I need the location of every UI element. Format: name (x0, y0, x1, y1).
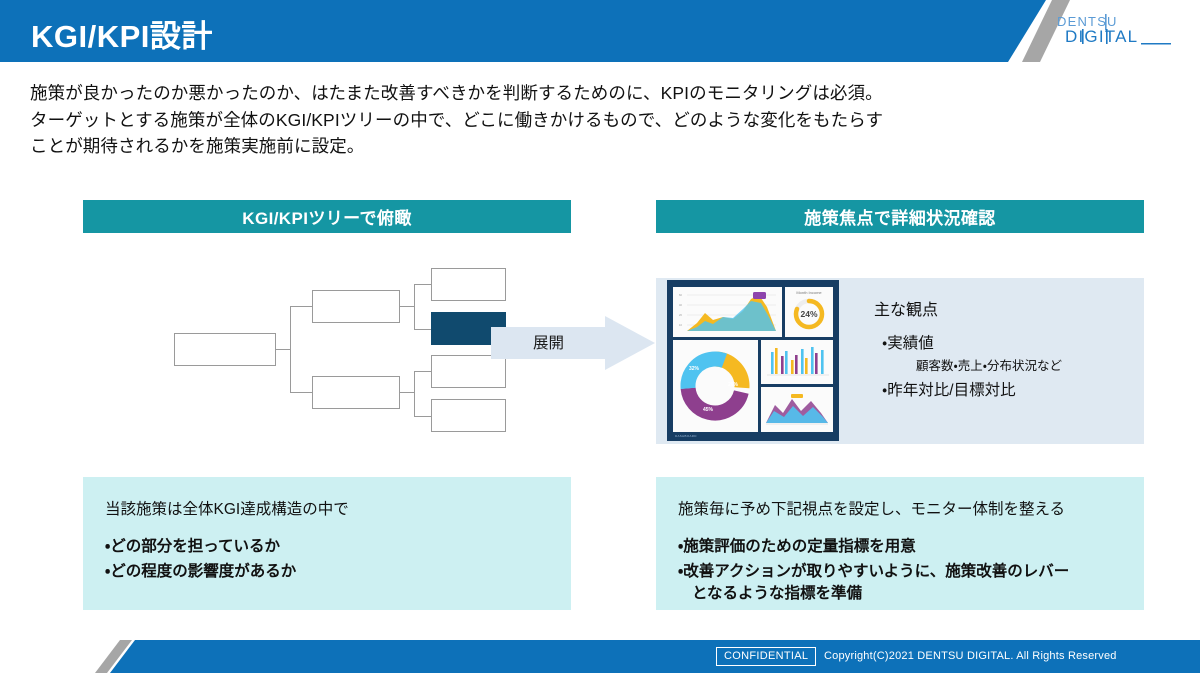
confidential-badge: CONFIDENTIAL (716, 647, 816, 666)
tree-connector (399, 392, 415, 393)
tree-connector (414, 371, 432, 372)
section-header-detail: 施策焦点で詳細状況確認 (656, 200, 1144, 233)
dashboard-grid: 6040 2010 Month Income 24% (673, 287, 833, 433)
bottom-right-list: ・施策評価のための定量指標を用意 ・改善アクションが取りやすいように、施策改善の… (678, 536, 1122, 605)
tree-connector (290, 306, 291, 393)
tree-connector (414, 329, 432, 330)
tree-connector (414, 371, 415, 417)
list-item-main: ・どの程度の影響度があるか (105, 563, 296, 580)
section-header-tree: KGI/KPIツリーで俯瞰 (83, 200, 571, 233)
list-item: ・どの部分を担っているか (105, 536, 549, 558)
arrow-shape-icon (491, 316, 655, 370)
bar-chart-icon (761, 340, 833, 384)
bottom-panel-left: 当該施策は全体KGI達成構造の中で ・どの部分を担っているか ・どの程度の影響度… (83, 477, 571, 610)
tree-connector (414, 284, 432, 285)
list-item-main: ・改善アクションが取りやすいように、施策改善のレバー (678, 563, 1069, 580)
mountain-chart-icon (761, 387, 833, 432)
bottom-left-list: ・どの部分を担っているか ・どの程度の影響度があるか (105, 536, 549, 583)
aspects-bullet-1: ・実績値 (882, 331, 1136, 353)
dashboard-mockup-image: 6040 2010 Month Income 24% (667, 280, 839, 441)
list-item: ・施策評価のための定量指標を用意 (678, 536, 1122, 558)
svg-text:60: 60 (679, 293, 682, 297)
donut-chart-icon (673, 340, 758, 432)
dashboard-brand-label: DASHBOARD (675, 434, 697, 438)
svg-text:40: 40 (679, 303, 682, 307)
bottom-right-lead: 施策毎に予め下記視点を設定し、モニター体制を整える (678, 497, 1122, 519)
tree-connector (414, 284, 415, 330)
tree-connector (275, 349, 291, 350)
dentsu-digital-logo: DENTSU DIGITAL (1043, 11, 1175, 51)
bottom-left-lead: 当該施策は全体KGI達成構造の中で (105, 497, 549, 519)
tree-node-leaf-1[interactable] (431, 268, 506, 301)
tree-connector (399, 306, 415, 307)
dashboard-bar-chart-card (761, 340, 833, 384)
donut-label-2: 26% (728, 382, 738, 388)
tree-node-mid-2[interactable] (312, 376, 400, 409)
tree-connector (290, 392, 313, 393)
tree-connector (290, 306, 313, 307)
copyright-text: Copyright(C)2021 DENTSU DIGITAL. All Rig… (824, 650, 1117, 662)
dashboard-gauge-card: Month Income 24% (785, 287, 833, 337)
svg-text:10: 10 (679, 323, 682, 327)
aspects-list: 主な観点 ・実績値 顧客数・売上・分布状況など ・昨年対比/目標対比 (874, 296, 1136, 400)
page-title: KGI/KPI設計 (31, 11, 213, 56)
expand-arrow: 展開 (491, 316, 655, 370)
list-item: ・改善アクションが取りやすいように、施策改善のレバー となるような指標を準備 (678, 561, 1122, 605)
bottom-panel-right: 施策毎に予め下記視点を設定し、モニター体制を整える ・施策評価のための定量指標を… (656, 477, 1144, 610)
tree-node-mid-1[interactable] (312, 290, 400, 323)
dashboard-area-chart-card: 6040 2010 (673, 287, 782, 337)
gauge-value: 24% (785, 309, 833, 319)
aspects-heading: 主な観点 (874, 296, 1136, 320)
lead-line-2: ターゲットとする施策が全体のKGI/KPIツリーの中で、どこに働きかけるもので、… (30, 107, 1170, 134)
kgi-kpi-tree (160, 265, 505, 465)
list-item: ・どの程度の影響度があるか (105, 561, 549, 583)
footer: CONFIDENTIAL Copyright(C)2021 DENTSU DIG… (0, 640, 1200, 673)
donut-label-3: 45% (703, 407, 713, 413)
tree-node-leaf-4[interactable] (431, 399, 506, 432)
list-item-main: ・どの部分を担っているか (105, 538, 280, 555)
lead-line-3: ことが期待されるかを施策実施前に設定。 (30, 133, 1170, 160)
arrow-label: 展開 (533, 331, 564, 353)
dashboard-mountain-chart-card (761, 387, 833, 432)
svg-text:20: 20 (679, 313, 682, 317)
list-item-continuation: となるような指標を準備 (692, 583, 1122, 605)
logo-mark: DENTSU DIGITAL (1043, 11, 1175, 51)
list-item-main: ・施策評価のための定量指標を用意 (678, 538, 916, 555)
donut-label-1: 32% (689, 366, 699, 372)
aspects-bullet-2: ・昨年対比/目標対比 (882, 378, 1136, 400)
dashboard-donut-card: 32% 26% 45% (673, 340, 758, 432)
tree-connector (414, 416, 432, 417)
svg-text:DIGITAL: DIGITAL (1065, 27, 1138, 46)
lead-line-1: 施策が良かったのか悪かったのか、はたまた改善すべきかを判断するためのに、KPIの… (30, 80, 1170, 107)
tree-node-root[interactable] (174, 333, 276, 366)
lead-paragraph: 施策が良かったのか悪かったのか、はたまた改善すべきかを判断するためのに、KPIの… (30, 80, 1170, 160)
area-chart-icon: 6040 2010 (673, 287, 782, 337)
aspects-bullet-1-sub: 顧客数・売上・分布状況など (916, 355, 1136, 374)
slide-root: KGI/KPI設計 DENTSU DIGITAL 施策が良かったのか悪かったのか… (0, 0, 1200, 673)
